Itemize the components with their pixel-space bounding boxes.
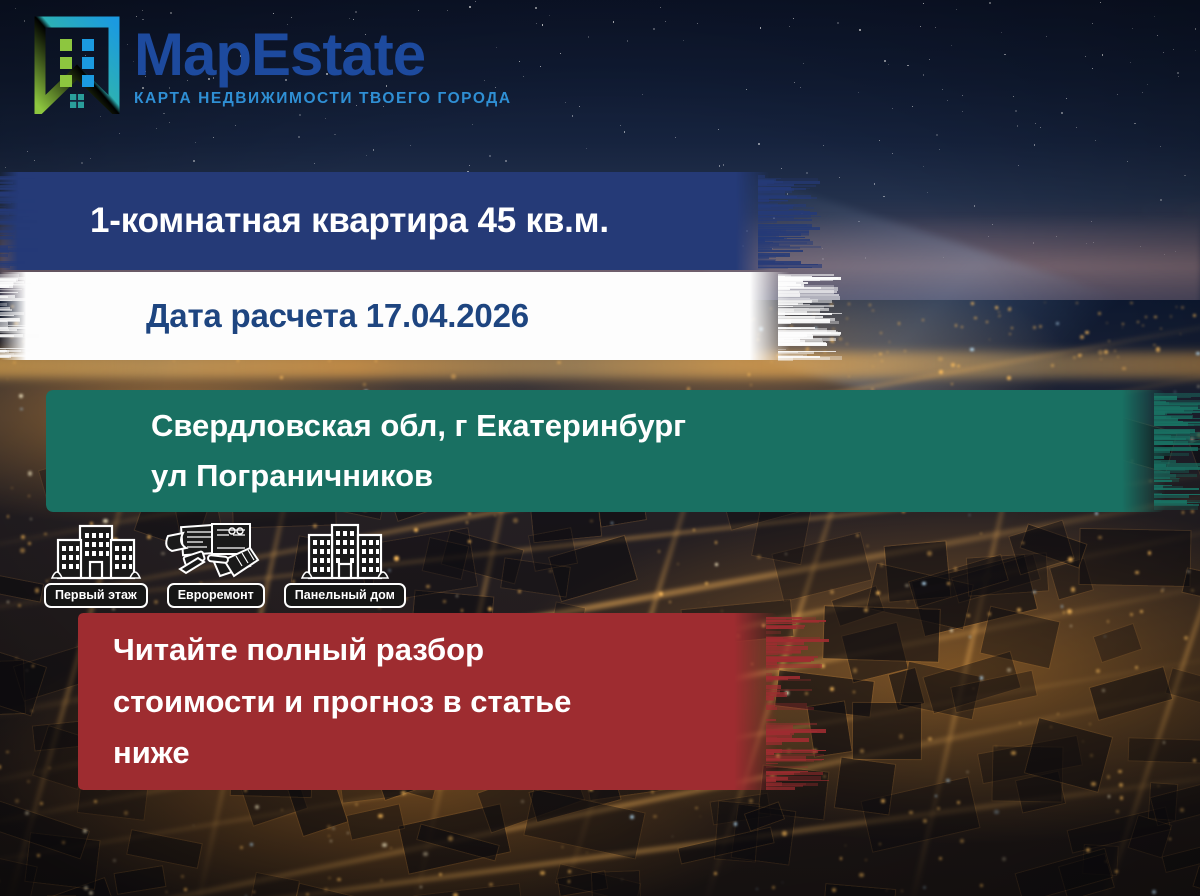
listing-title-band: 1-комнатная квартира 45 кв.м.	[0, 172, 770, 270]
brand-wordmark: MapEstate	[134, 25, 512, 85]
badge-label: Первый этаж	[44, 583, 148, 608]
badge-first-floor[interactable]: Первый этаж	[44, 522, 148, 608]
address-band: Свердловская обл, г Екатеринбург ул Погр…	[46, 390, 1166, 512]
calculation-date-band: Дата расчета 17.04.2026	[0, 272, 790, 360]
cta-line-3: ниже	[113, 727, 778, 778]
address-line-region: Свердловская обл, г Екатеринбург	[151, 401, 1166, 451]
address-line-street: ул Пограничников	[151, 451, 1166, 501]
brand-text: MapEstate КАРТА НЕДВИЖИМОСТИ ТВОЕГО ГОРО…	[134, 23, 512, 108]
badge-label: Евроремонт	[167, 583, 265, 608]
page-title: 1-комнатная квартира 45 кв.м.	[90, 201, 770, 241]
listing-poster: MapEstate КАРТА НЕДВИЖИМОСТИ ТВОЕГО ГОРО…	[0, 0, 1200, 896]
badge-euro-renovation[interactable]: Евроремонт	[162, 522, 270, 608]
cta-line-2: стоимости и прогноз в статье	[113, 676, 778, 727]
renovation-tools-icon	[162, 522, 270, 589]
brand-tagline: КАРТА НЕДВИЖИМОСТИ ТВОЕГО ГОРОДА	[134, 90, 512, 108]
badge-panel-house[interactable]: Панельный дом	[284, 522, 406, 608]
cta-line-1: Читайте полный разбор	[113, 624, 778, 675]
feature-badges: Первый этаж	[44, 522, 406, 608]
cta-band[interactable]: Читайте полный разбор стоимости и прогно…	[78, 613, 778, 790]
brand-logo[interactable]: MapEstate КАРТА НЕДВИЖИМОСТИ ТВОЕГО ГОРО…	[34, 16, 512, 114]
badge-label: Панельный дом	[284, 583, 406, 608]
building-bookmark-logo-icon	[34, 16, 120, 114]
panel-house-icon	[299, 522, 391, 589]
apartment-building-icon	[50, 522, 142, 589]
calculation-date: Дата расчета 17.04.2026	[146, 297, 790, 335]
